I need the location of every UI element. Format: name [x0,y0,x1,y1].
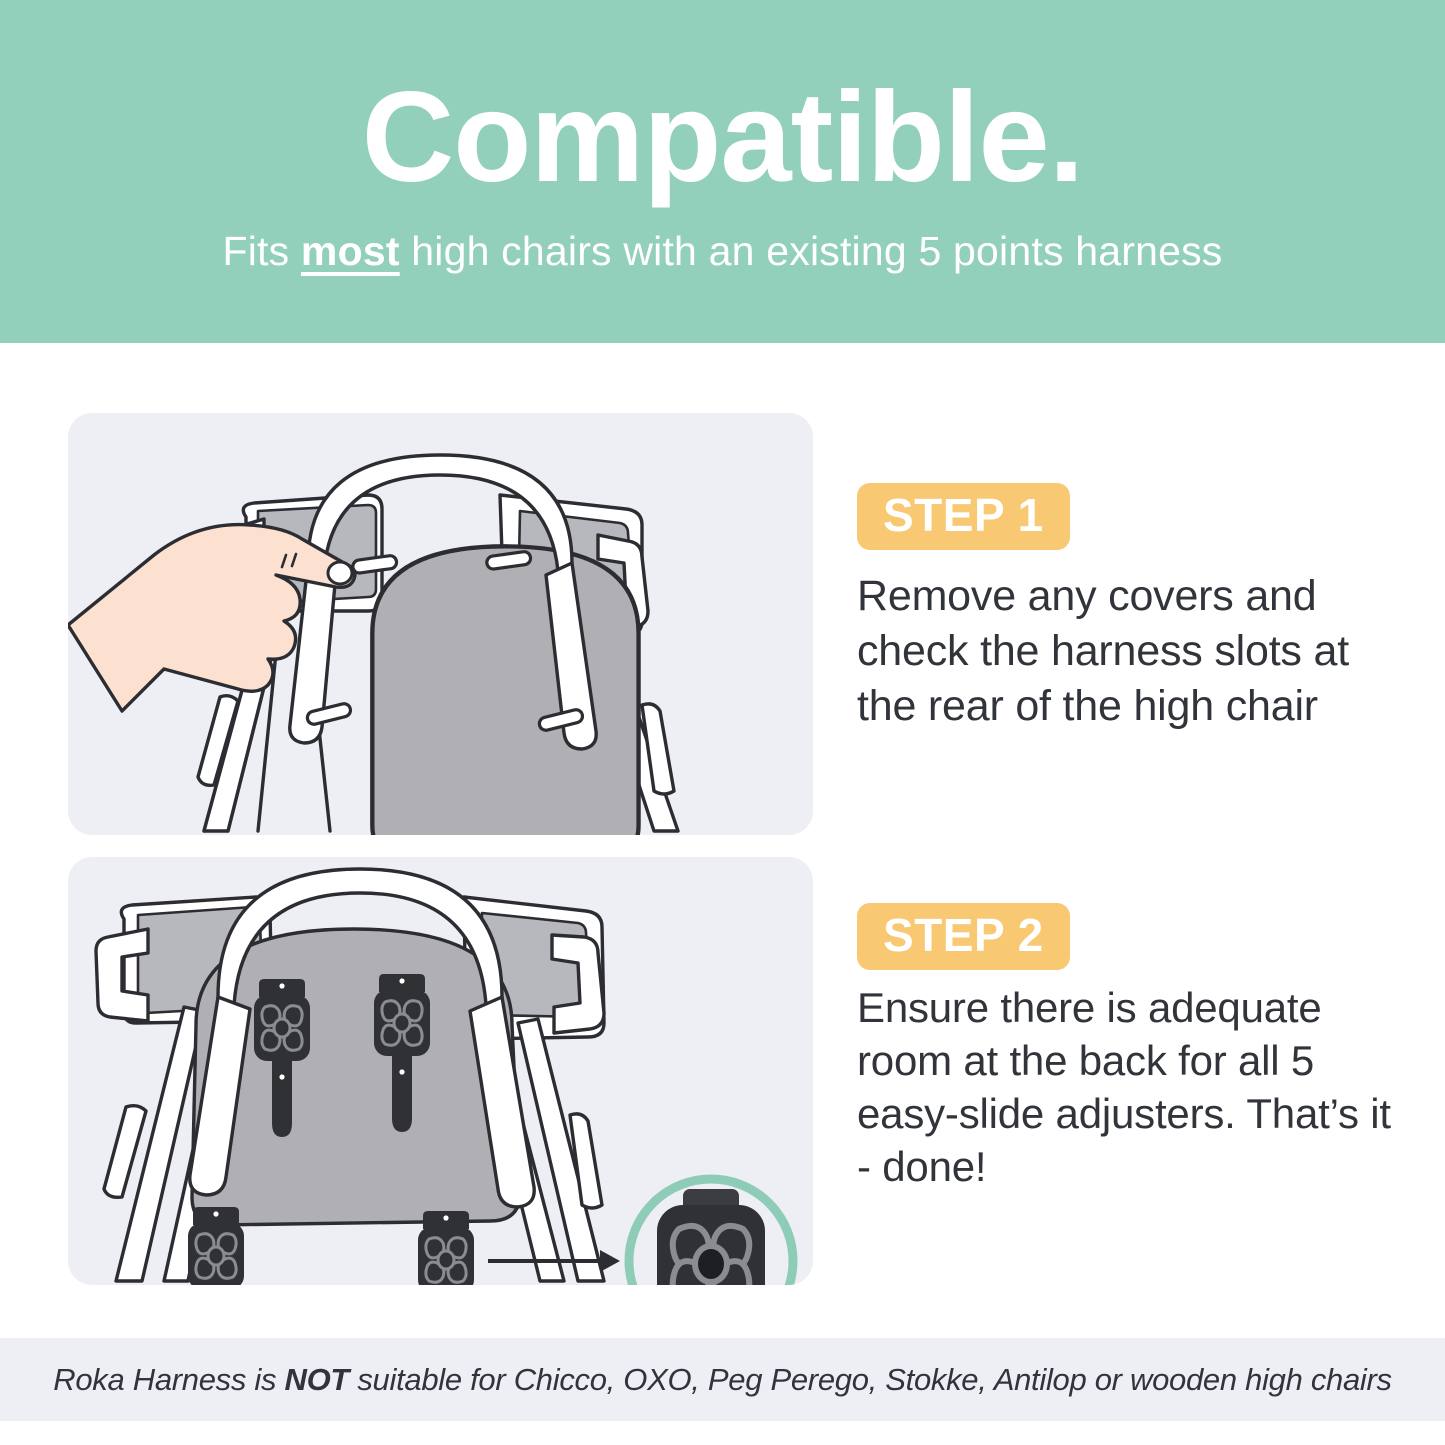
step-2-illustration-panel [68,857,813,1285]
footer-emphasis-not: NOT [285,1362,350,1397]
step-1-text-block: STEP 1 Remove any covers and check the h… [857,483,1387,734]
step-2-badge: STEP 2 [857,903,1070,970]
subtitle-emphasis-most: most [301,228,400,274]
step-1-badge: STEP 1 [857,483,1070,550]
adjuster-detail-callout [629,1179,793,1285]
subtitle-text-after: high chairs with an existing 5 points ha… [400,228,1223,274]
high-chair-rear-pointing-illustration [68,413,813,835]
step-2-text-block: STEP 2 Ensure there is adequate room at … [857,903,1402,1194]
high-chair-rear-adjusters-illustration [68,857,813,1285]
page-subtitle: Fits most high chairs with an existing 5… [222,228,1222,275]
footer-disclaimer-text: Roka Harness is NOT suitable for Chicco,… [53,1362,1391,1398]
footer-disclaimer-band: Roka Harness is NOT suitable for Chicco,… [0,1338,1445,1421]
header-banner: Compatible. Fits most high chairs with a… [0,0,1445,343]
footer-text-before: Roka Harness is [53,1362,284,1397]
page-title: Compatible. [362,74,1084,202]
adjuster-buckle [418,1211,474,1285]
step-2-description: Ensure there is adequate room at the bac… [857,982,1402,1194]
infographic-page: Compatible. Fits most high chairs with a… [0,0,1445,1445]
step-1-illustration-panel [68,413,813,835]
adjuster-buckle [188,1207,244,1285]
footer-text-after: suitable for Chicco, OXO, Peg Perego, St… [349,1362,1392,1397]
subtitle-text-before: Fits [222,228,300,274]
step-1-description: Remove any covers and check the harness … [857,569,1387,734]
